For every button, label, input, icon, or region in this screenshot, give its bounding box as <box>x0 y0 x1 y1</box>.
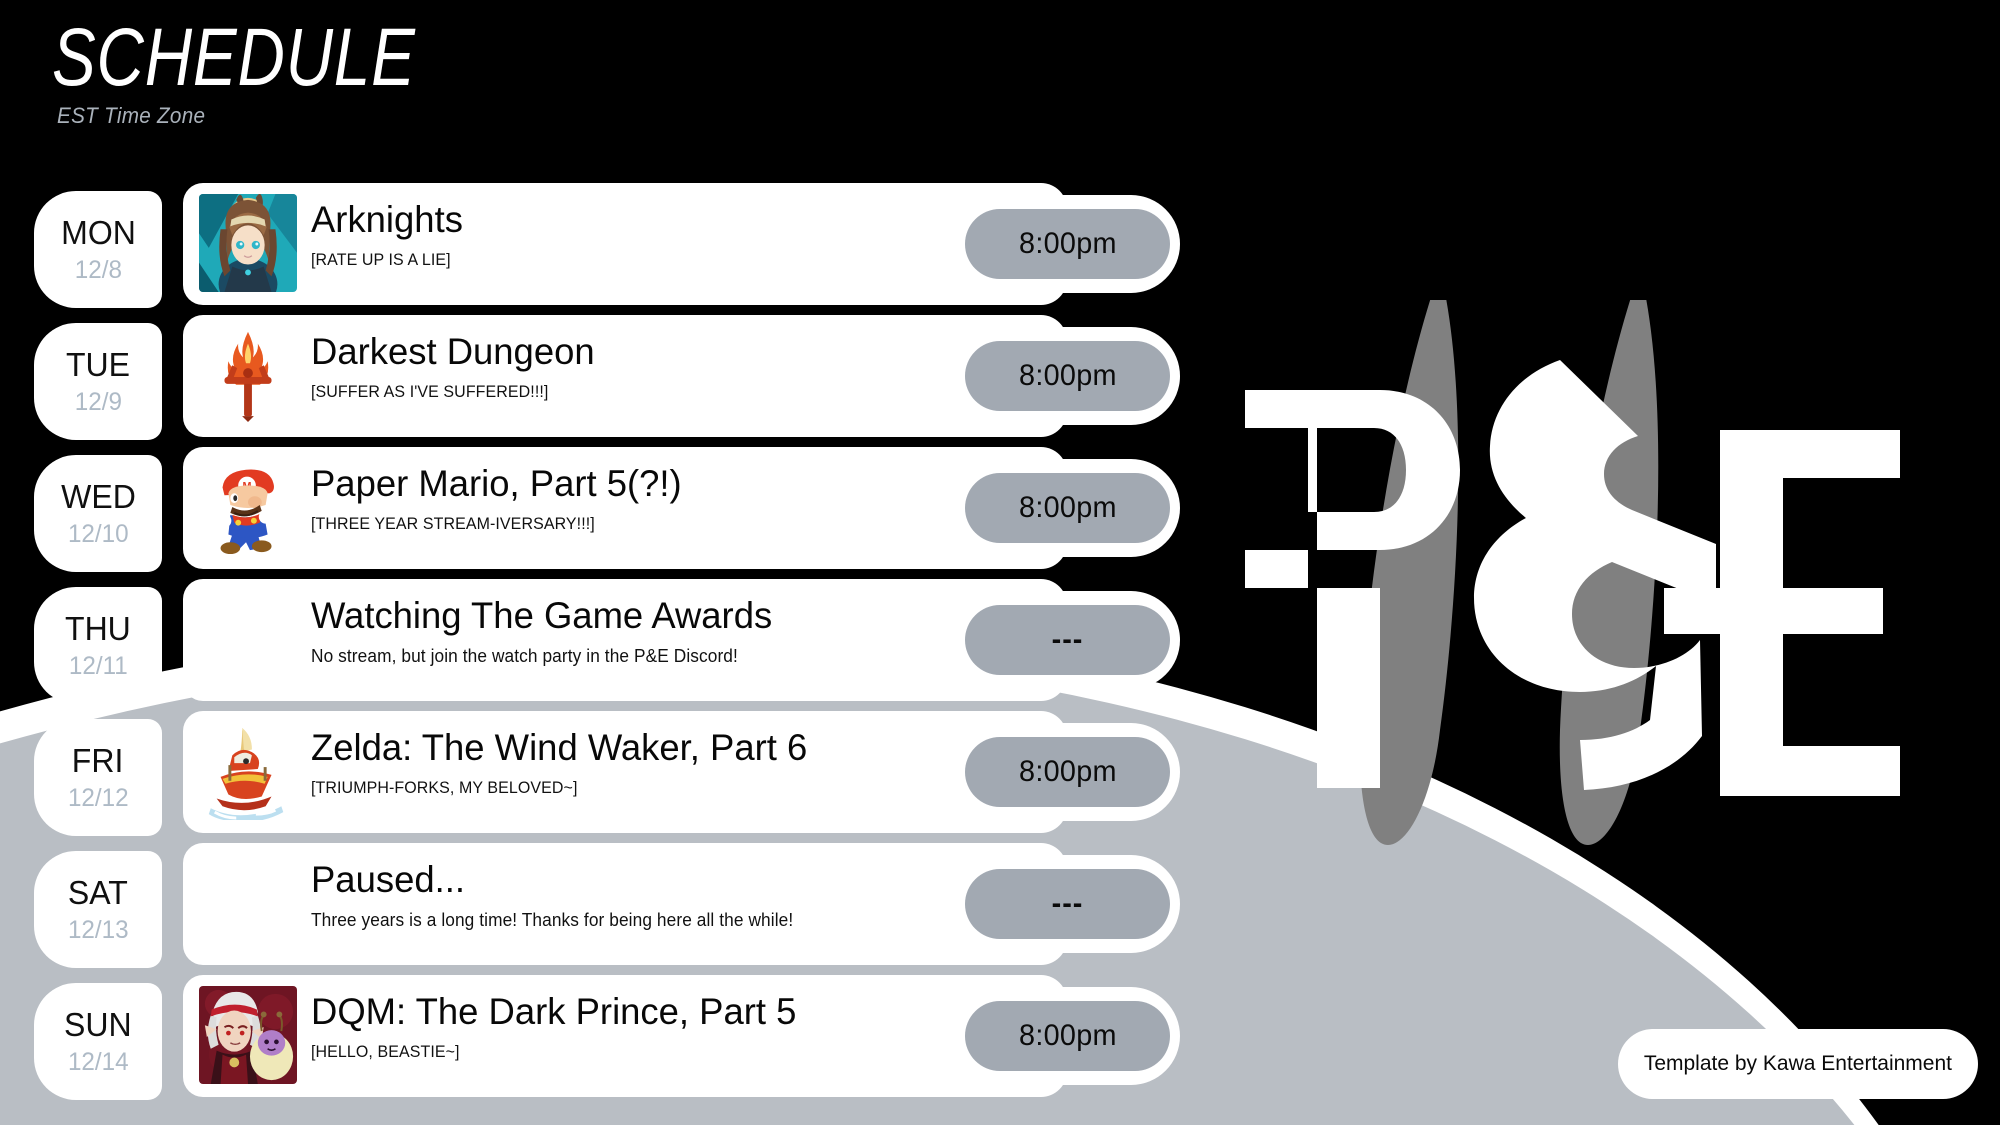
day-name: TUE <box>66 348 130 381</box>
time-text: 8:00pm <box>1019 359 1117 393</box>
schedule-row: WED 12/10 M Pa <box>0 447 1100 581</box>
schedule-card: Arknights [RATE UP IS A LIE] <box>183 183 1067 305</box>
header: SCHEDULE EST Time Zone <box>52 10 507 129</box>
schedule-card: M Paper Mario, Part 5(?!) [THREE YEAR ST… <box>183 447 1067 569</box>
day-date: 12/11 <box>69 654 128 679</box>
card-texts: Darkest Dungeon [SUFFER AS I'VE SUFFERED… <box>311 333 847 402</box>
card-texts: Paused... Three years is a long time! Th… <box>311 861 847 931</box>
day-chip: THU 12/11 <box>34 587 162 704</box>
card-texts: Arknights [RATE UP IS A LIE] <box>311 201 847 270</box>
schedule-rows: MON 12/8 <box>0 183 1100 1107</box>
game-subtitle: [THREE YEAR STREAM-IVERSARY!!!] <box>311 514 815 534</box>
time-text: 8:00pm <box>1019 1019 1117 1053</box>
time-badge-shell: --- <box>955 591 1180 689</box>
day-name: WED <box>61 480 136 513</box>
day-chip: TUE 12/9 <box>34 323 162 440</box>
timezone-subtitle: EST Time Zone <box>57 103 480 129</box>
time-badge: 8:00pm <box>965 473 1170 543</box>
time-badge: 8:00pm <box>965 341 1170 411</box>
schedule-card: Zelda: The Wind Waker, Part 6 [TRIUMPH-F… <box>183 711 1067 833</box>
time-badge: 8:00pm <box>965 737 1170 807</box>
card-texts: Zelda: The Wind Waker, Part 6 [TRIUMPH-F… <box>311 729 847 798</box>
card-texts: DQM: The Dark Prince, Part 5 [HELLO, BEA… <box>311 993 847 1062</box>
game-subtitle: [SUFFER AS I'VE SUFFERED!!!] <box>311 382 815 402</box>
game-subtitle: Three years is a long time! Thanks for b… <box>311 910 826 931</box>
time-badge-shell: 8:00pm <box>955 987 1180 1085</box>
schedule-row: TUE 12/9 Darkest Dungeon [SUFFER AS I'VE… <box>0 315 1100 449</box>
game-thumbnail: M <box>199 458 297 556</box>
time-text: 8:00pm <box>1019 491 1117 525</box>
day-date: 12/10 <box>68 522 129 547</box>
time-text: --- <box>1052 887 1084 921</box>
time-badge-shell: 8:00pm <box>955 459 1180 557</box>
time-badge: 8:00pm <box>965 1001 1170 1071</box>
day-chip: SAT 12/13 <box>34 851 162 968</box>
card-texts: Watching The Game Awards No stream, but … <box>311 597 847 667</box>
schedule-card: Paused... Three years is a long time! Th… <box>183 843 1067 965</box>
schedule-card: Watching The Game Awards No stream, but … <box>183 579 1067 701</box>
day-chip: FRI 12/12 <box>34 719 162 836</box>
time-text: 8:00pm <box>1019 227 1117 261</box>
day-name: THU <box>65 612 131 645</box>
game-title: Paper Mario, Part 5(?!) <box>311 465 839 504</box>
pe-logo <box>1140 300 1900 880</box>
schedule-row: SUN 12/14 <box>0 975 1100 1109</box>
game-title: Darkest Dungeon <box>311 333 839 372</box>
game-title: DQM: The Dark Prince, Part 5 <box>311 993 839 1032</box>
game-subtitle: [HELLO, BEASTIE~] <box>311 1042 815 1062</box>
page-title: SCHEDULE <box>52 10 416 107</box>
game-title: Zelda: The Wind Waker, Part 6 <box>311 729 839 768</box>
game-title: Paused... <box>311 861 839 900</box>
template-credit-text: Template by Kawa Entertainment <box>1644 1052 1952 1076</box>
day-date: 12/8 <box>74 258 121 283</box>
time-badge-shell: 8:00pm <box>955 327 1180 425</box>
day-date: 12/12 <box>68 786 129 811</box>
day-date: 12/9 <box>74 390 121 415</box>
day-name: SAT <box>68 876 128 909</box>
card-texts: Paper Mario, Part 5(?!) [THREE YEAR STRE… <box>311 465 847 534</box>
day-date: 12/13 <box>68 918 129 943</box>
day-chip: WED 12/10 <box>34 455 162 572</box>
day-date: 12/14 <box>68 1050 129 1075</box>
game-thumbnail <box>199 326 297 424</box>
time-badge: --- <box>965 869 1170 939</box>
day-name: MON <box>61 216 136 249</box>
schedule-row: THU 12/11 Watching The Game Awards No st… <box>0 579 1100 713</box>
template-credit-pill: Template by Kawa Entertainment <box>1618 1029 1978 1099</box>
schedule-row: MON 12/8 <box>0 183 1100 317</box>
time-badge: 8:00pm <box>965 209 1170 279</box>
day-chip: MON 12/8 <box>34 191 162 308</box>
game-subtitle: No stream, but join the watch party in t… <box>311 646 826 667</box>
game-title: Watching The Game Awards <box>311 597 839 636</box>
time-text: --- <box>1052 623 1084 657</box>
time-badge-shell: --- <box>955 855 1180 953</box>
schedule-card: DQM: The Dark Prince, Part 5 [HELLO, BEA… <box>183 975 1067 1097</box>
schedule-row: FRI 12/12 Zelda: The Wind Waker, Part 6 <box>0 711 1100 845</box>
game-thumbnail <box>199 986 297 1084</box>
game-subtitle: [TRIUMPH-FORKS, MY BELOVED~] <box>311 778 815 798</box>
game-thumbnail <box>199 194 297 292</box>
day-name: SUN <box>64 1008 132 1041</box>
time-badge-shell: 8:00pm <box>955 723 1180 821</box>
schedule-card: Darkest Dungeon [SUFFER AS I'VE SUFFERED… <box>183 315 1067 437</box>
time-badge-shell: 8:00pm <box>955 195 1180 293</box>
time-badge: --- <box>965 605 1170 675</box>
day-chip: SUN 12/14 <box>34 983 162 1100</box>
game-thumbnail <box>199 722 297 820</box>
day-name: FRI <box>72 744 124 777</box>
time-text: 8:00pm <box>1019 755 1117 789</box>
game-subtitle: [RATE UP IS A LIE] <box>311 250 815 270</box>
schedule-graphic: SCHEDULE EST Time Zone MON 12/8 <box>0 0 2000 1125</box>
schedule-row: SAT 12/13 Paused... Three years is a lon… <box>0 843 1100 977</box>
game-title: Arknights <box>311 201 839 240</box>
